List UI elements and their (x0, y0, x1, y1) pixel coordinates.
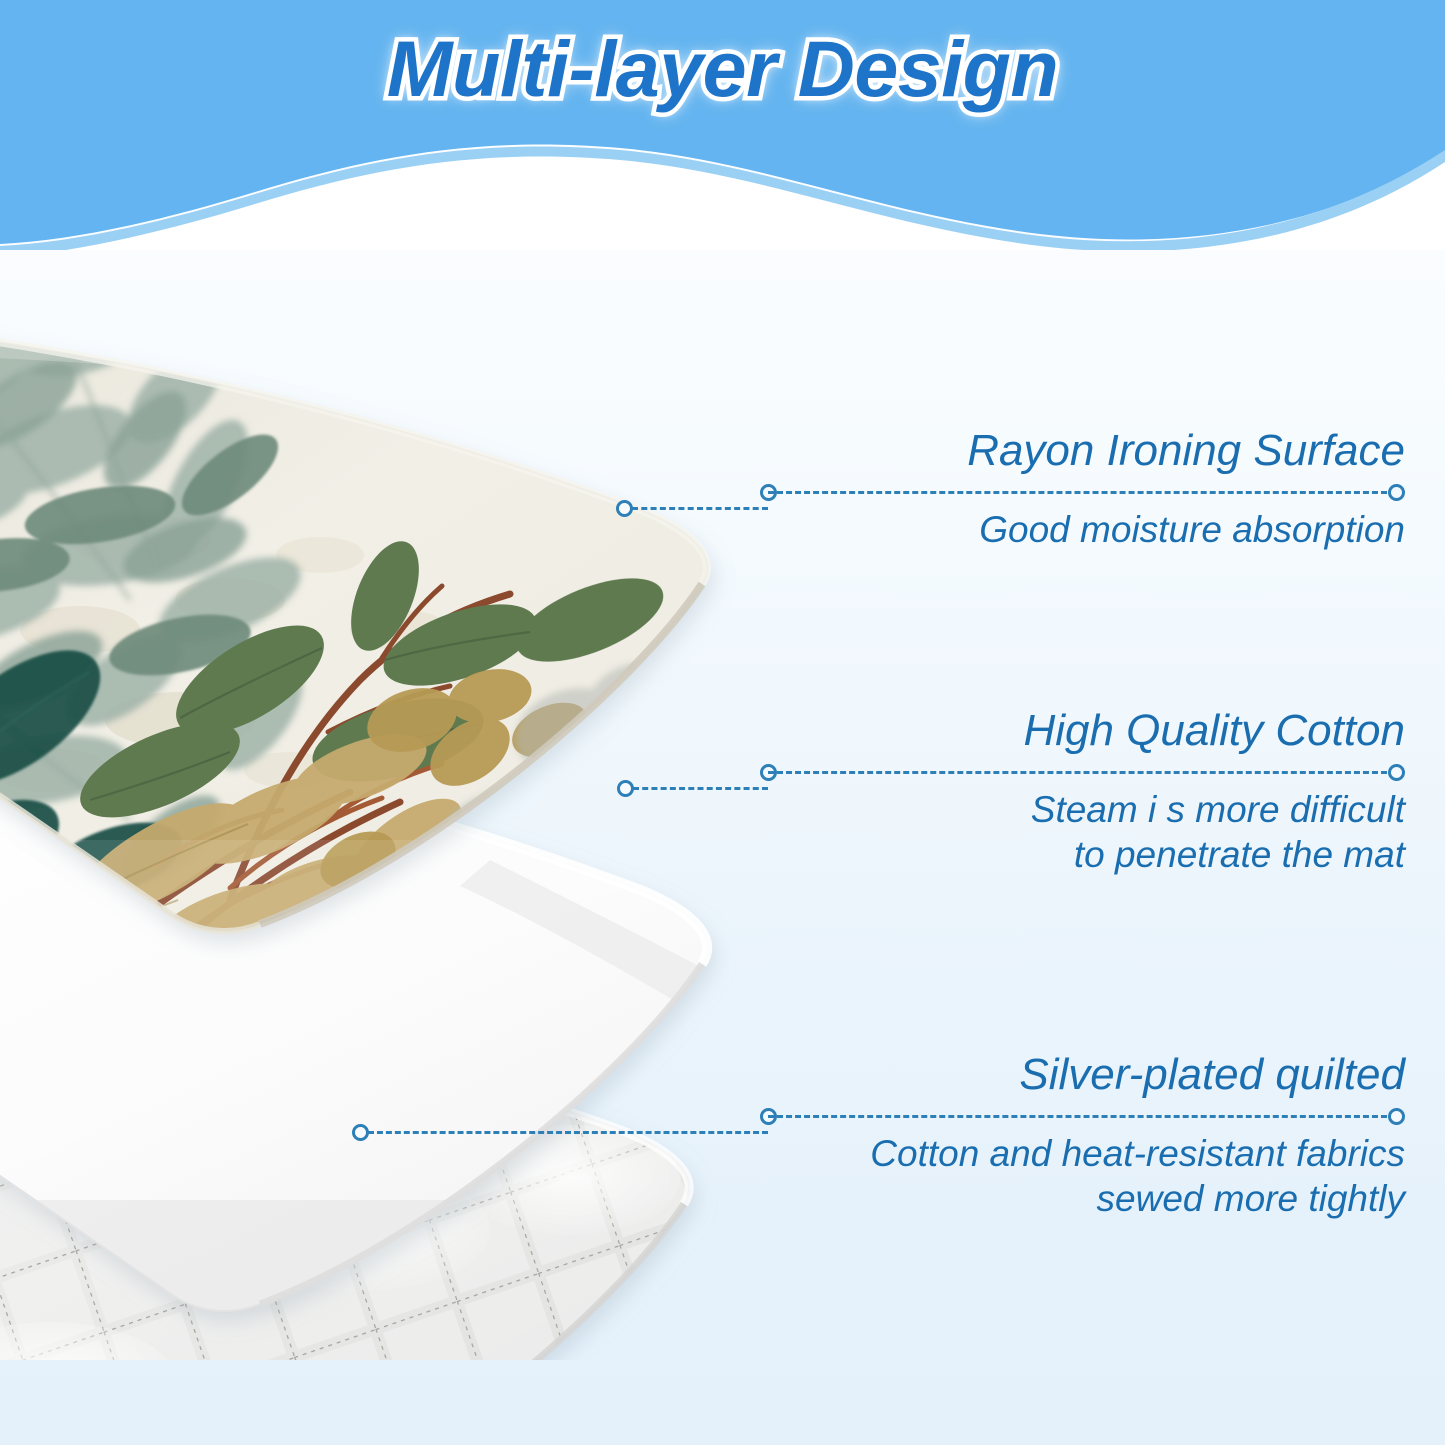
callout-2-dash (768, 771, 1396, 774)
callout-3-dot-right (1388, 1108, 1405, 1125)
product-layer-stack (0, 300, 830, 1360)
callout-2-dot-right (1388, 764, 1405, 781)
callout-2-line-1: Steam i s more difficult (760, 787, 1405, 832)
callout-3-rule (760, 1107, 1405, 1125)
callout-3-title: Silver-plated quilted (760, 1052, 1405, 1098)
leader-dash-2 (633, 787, 768, 790)
leader-dash-1 (632, 507, 768, 510)
leader-dot-2 (617, 780, 634, 797)
callout-1-dash (768, 491, 1396, 494)
infographic-canvas: Multi-layer Design (0, 0, 1445, 1445)
callout-silver-plated-quilted: Silver-plated quilted Cotton and heat-re… (760, 1052, 1405, 1221)
callout-1-title: Rayon Ironing Surface (760, 428, 1405, 474)
leader-line-1 (616, 499, 768, 517)
callout-1-rule (760, 483, 1405, 501)
header-wave-banner (0, 0, 1445, 250)
callout-2-title: High Quality Cotton (760, 708, 1405, 754)
leader-dash-3 (368, 1131, 768, 1134)
callout-2-rule (760, 763, 1405, 781)
callout-1-line-1: Good moisture absorption (760, 507, 1405, 552)
callout-1-dot-right (1388, 484, 1405, 501)
leader-line-2 (617, 779, 768, 797)
callout-3-line-1: Cotton and heat-resistant fabrics (760, 1131, 1405, 1176)
callout-high-quality-cotton: High Quality Cotton Steam i s more diffi… (760, 708, 1405, 877)
leader-dot-1 (616, 500, 633, 517)
callout-rayon-ironing-surface: Rayon Ironing Surface Good moisture abso… (760, 428, 1405, 552)
leader-line-3 (352, 1123, 768, 1141)
callout-2-line-2: to penetrate the mat (760, 832, 1405, 877)
callout-3-line-2: sewed more tightly (760, 1176, 1405, 1221)
leader-dot-3 (352, 1124, 369, 1141)
callout-3-dash (768, 1115, 1396, 1118)
